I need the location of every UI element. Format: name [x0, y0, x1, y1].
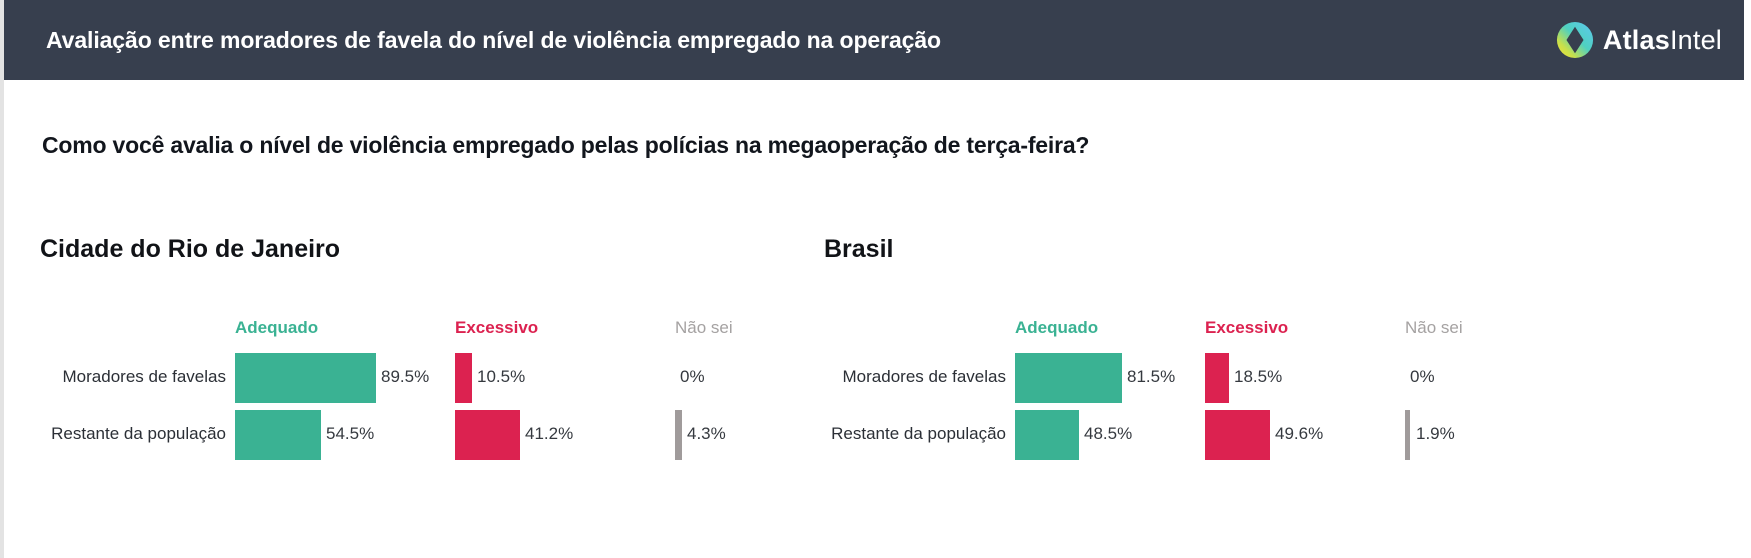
bar-adequado-moradores-rio	[235, 353, 376, 403]
bar-excessivo-moradores-rio	[455, 353, 472, 403]
bar-adequado-restante-brasil	[1015, 410, 1079, 460]
brand-name: AtlasIntel	[1603, 25, 1722, 56]
column-header-nao-sei-brasil: Não sei	[1405, 318, 1463, 338]
row-label-restante-brasil: Restante da população	[794, 424, 1006, 444]
brand-name-bold: Atlas	[1603, 25, 1670, 55]
column-header-adequado-rio: Adequado	[235, 318, 318, 338]
value-excessivo-moradores-brasil: 18.5%	[1234, 367, 1282, 387]
page-title: Avaliação entre moradores de favela do n…	[46, 27, 941, 54]
panel-title-rio: Cidade do Rio de Janeiro	[40, 235, 340, 264]
row-label-moradores-brasil: Moradores de favelas	[794, 367, 1006, 387]
bar-nao-sei-restante-rio	[675, 410, 682, 460]
atlasintel-diamond-logo-icon	[1556, 21, 1594, 59]
value-nao-sei-restante-brasil: 1.9%	[1416, 424, 1455, 444]
column-header-excessivo-brasil: Excessivo	[1205, 318, 1288, 338]
bar-adequado-moradores-brasil	[1015, 353, 1122, 403]
bar-nao-sei-restante-brasil	[1405, 410, 1410, 460]
brand-logo: AtlasIntel	[1556, 21, 1722, 59]
bar-excessivo-restante-brasil	[1205, 410, 1270, 460]
row-label-moradores-rio: Moradores de favelas	[4, 367, 226, 387]
value-adequado-restante-brasil: 48.5%	[1084, 424, 1132, 444]
chart-panel-brasil: Brasil Adequado Excessivo Não sei Morado…	[794, 225, 1669, 545]
chart-panel-rio: Cidade do Rio de Janeiro Adequado Excess…	[4, 225, 879, 545]
value-nao-sei-moradores-brasil: 0%	[1410, 367, 1435, 387]
page-header: Avaliação entre moradores de favela do n…	[4, 0, 1744, 80]
value-nao-sei-moradores-rio: 0%	[680, 367, 705, 387]
bar-adequado-restante-rio	[235, 410, 321, 460]
column-header-adequado-brasil: Adequado	[1015, 318, 1098, 338]
brand-name-light: Intel	[1670, 25, 1722, 55]
value-nao-sei-restante-rio: 4.3%	[687, 424, 726, 444]
panel-title-brasil: Brasil	[824, 235, 893, 264]
report-page: Avaliação entre moradores de favela do n…	[0, 0, 1751, 558]
value-adequado-restante-rio: 54.5%	[326, 424, 374, 444]
value-excessivo-restante-rio: 41.2%	[525, 424, 573, 444]
bar-excessivo-moradores-brasil	[1205, 353, 1229, 403]
column-header-nao-sei-rio: Não sei	[675, 318, 733, 338]
survey-question: Como você avalia o nível de violência em…	[42, 132, 1089, 159]
bar-excessivo-restante-rio	[455, 410, 520, 460]
row-label-restante-rio: Restante da população	[4, 424, 226, 444]
value-adequado-moradores-rio: 89.5%	[381, 367, 429, 387]
value-excessivo-moradores-rio: 10.5%	[477, 367, 525, 387]
value-adequado-moradores-brasil: 81.5%	[1127, 367, 1175, 387]
column-header-excessivo-rio: Excessivo	[455, 318, 538, 338]
value-excessivo-restante-brasil: 49.6%	[1275, 424, 1323, 444]
